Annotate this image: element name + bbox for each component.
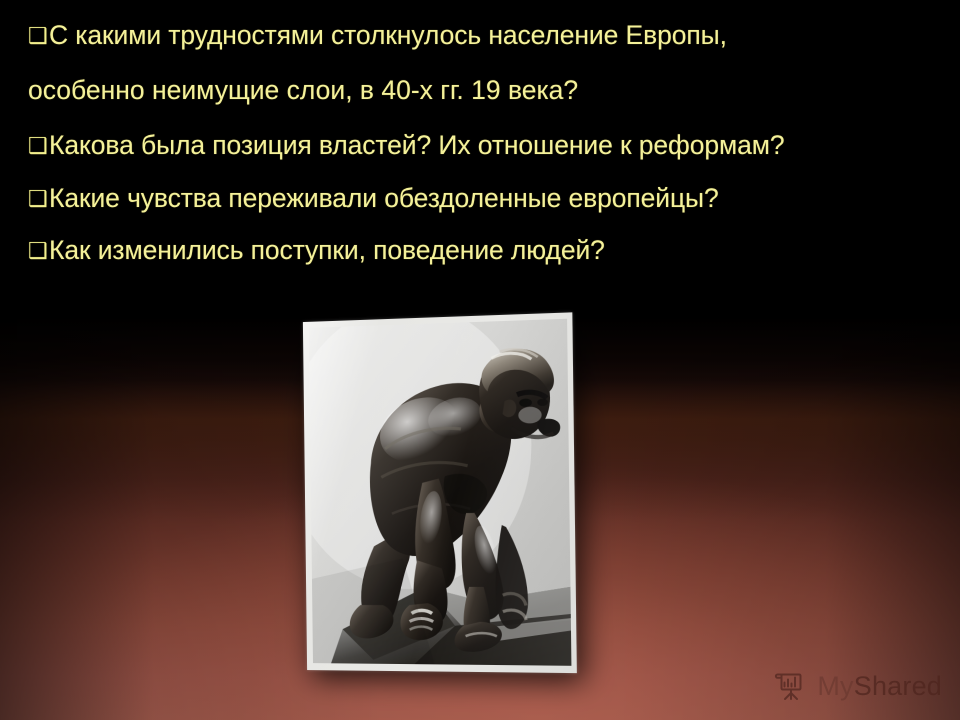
bullet-item-4: ❑Как изменились поступки, поведение люде… bbox=[28, 237, 940, 264]
photo-image bbox=[309, 319, 572, 666]
bullet-item-4-text: Как изменились поступки, поведение людей… bbox=[49, 235, 605, 265]
bullet-square-icon: ❑ bbox=[28, 25, 49, 47]
watermark-text-my: My bbox=[817, 671, 853, 701]
line-gap bbox=[28, 159, 940, 185]
line-gap bbox=[28, 49, 940, 77]
myshared-watermark-text: MyShared bbox=[817, 671, 942, 702]
myshared-watermark: MyShared bbox=[774, 670, 942, 702]
bullet-item-1: ❑С какими трудностями столкнулось населе… bbox=[28, 22, 940, 49]
line-gap bbox=[28, 103, 940, 132]
bullet-item-3: ❑Какие чувства переживали обездоленные е… bbox=[28, 185, 940, 212]
photo-frame bbox=[303, 312, 577, 673]
bullet-item-3-text: Какие чувства переживали обездоленные ев… bbox=[49, 183, 719, 213]
bullet-item-1-continuation: особенно неимущие слои, в 40-х гг. 19 ве… bbox=[28, 77, 940, 104]
bullet-list: ❑С какими трудностями столкнулось населе… bbox=[0, 0, 940, 264]
bullet-square-icon: ❑ bbox=[28, 188, 49, 210]
watermark-text-shared: Shared bbox=[854, 671, 942, 701]
photo-figure bbox=[303, 312, 577, 673]
line-gap bbox=[28, 211, 940, 237]
bullet-item-2-text: Какова была позиция властей? Их отношени… bbox=[49, 130, 785, 160]
presentation-slide: ❑С какими трудностями столкнулось населе… bbox=[0, 0, 960, 720]
presentation-board-icon bbox=[774, 670, 808, 702]
bronze-sculpture-crouching-man-image bbox=[309, 319, 572, 666]
bullet-item-1-text: С какими трудностями столкнулось населен… bbox=[49, 20, 727, 50]
bullet-square-icon: ❑ bbox=[28, 135, 49, 157]
bullet-item-2: ❑Какова была позиция властей? Их отношен… bbox=[28, 132, 940, 159]
bullet-square-icon: ❑ bbox=[28, 240, 49, 262]
